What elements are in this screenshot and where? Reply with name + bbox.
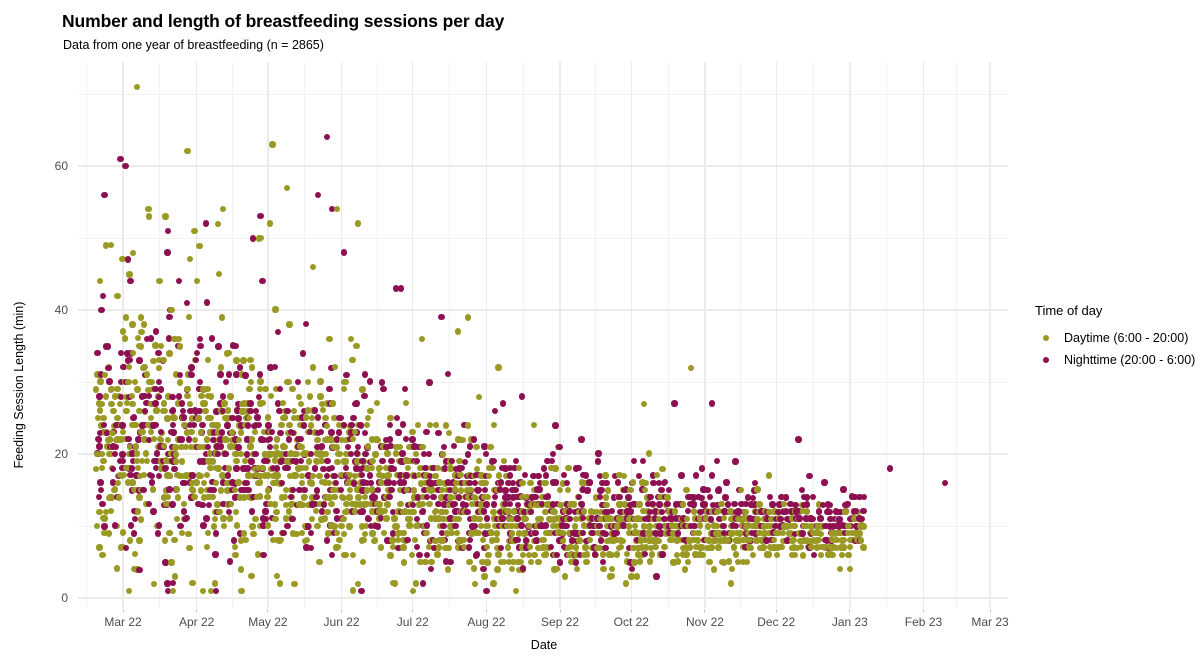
- data-point: [224, 422, 230, 428]
- data-point: [134, 450, 140, 456]
- data-point: [282, 414, 288, 420]
- data-point: [184, 393, 190, 399]
- data-point: [359, 386, 365, 392]
- data-point: [523, 516, 529, 522]
- data-point: [618, 537, 624, 543]
- data-point: [410, 588, 416, 594]
- data-point: [742, 509, 748, 515]
- data-point: [642, 551, 648, 557]
- data-point: [565, 487, 571, 493]
- data-point: [349, 357, 355, 363]
- data-point: [169, 408, 175, 414]
- data-point: [494, 530, 500, 536]
- data-point: [683, 487, 689, 493]
- data-point: [587, 537, 593, 543]
- data-point: [406, 522, 412, 528]
- data-point: [215, 221, 221, 227]
- x-tick-mark: [631, 609, 632, 613]
- data-point: [401, 559, 407, 565]
- data-point: [548, 544, 554, 550]
- data-point: [125, 379, 131, 385]
- data-point: [113, 444, 119, 450]
- data-point: [459, 465, 465, 471]
- data-point: [573, 544, 579, 550]
- data-point: [362, 371, 368, 377]
- data-point: [252, 429, 258, 435]
- data-point: [433, 422, 439, 428]
- data-point: [618, 544, 624, 550]
- data-point: [258, 235, 264, 241]
- data-point: [273, 509, 279, 515]
- x-tick-label: Mar 22: [104, 615, 141, 629]
- data-point: [387, 436, 393, 442]
- data-point: [367, 472, 373, 478]
- data-point: [277, 386, 283, 392]
- data-point: [346, 494, 352, 500]
- data-point: [572, 523, 578, 529]
- data-point: [528, 509, 534, 515]
- data-point: [388, 458, 394, 464]
- data-point: [286, 436, 292, 442]
- data-point: [203, 408, 209, 414]
- data-point: [383, 515, 389, 521]
- data-point: [306, 458, 312, 464]
- data-point: [123, 314, 129, 320]
- gridline-x-minor: [956, 62, 957, 608]
- data-point: [285, 379, 291, 385]
- data-point: [305, 523, 311, 529]
- data-point: [654, 472, 660, 478]
- data-point: [445, 566, 451, 572]
- data-point: [202, 400, 208, 406]
- legend-key-night: [1035, 349, 1057, 371]
- data-point: [317, 378, 323, 384]
- data-point: [491, 501, 497, 507]
- data-point: [248, 379, 254, 385]
- data-point: [160, 357, 166, 363]
- data-point: [250, 531, 256, 537]
- data-point: [274, 472, 280, 478]
- data-point: [350, 436, 356, 442]
- data-point: [336, 429, 342, 435]
- data-point: [225, 407, 231, 413]
- legend-label: Nighttime (20:00 - 6:00): [1064, 353, 1195, 367]
- data-point: [452, 501, 458, 507]
- data-point: [116, 494, 122, 500]
- data-point: [296, 394, 302, 400]
- data-point: [259, 278, 265, 284]
- data-point: [145, 206, 151, 212]
- data-point: [110, 408, 116, 414]
- data-point: [314, 487, 320, 493]
- data-point: [754, 486, 760, 492]
- data-point: [333, 480, 339, 486]
- data-point: [223, 379, 229, 385]
- data-point: [350, 552, 356, 558]
- data-point: [454, 530, 460, 536]
- data-point: [126, 271, 132, 277]
- data-point: [245, 465, 251, 471]
- data-point: [603, 494, 609, 500]
- data-point: [810, 494, 816, 500]
- data-point: [152, 400, 158, 406]
- gridline-x-minor: [232, 62, 233, 608]
- data-point: [284, 523, 290, 529]
- data-point: [449, 458, 455, 464]
- data-point: [138, 329, 144, 335]
- data-point: [756, 501, 762, 507]
- data-point: [592, 551, 598, 557]
- data-point: [130, 350, 136, 356]
- data-point: [362, 430, 368, 436]
- data-point: [400, 530, 406, 536]
- data-point: [518, 522, 524, 528]
- data-point: [129, 393, 135, 399]
- data-point: [728, 580, 734, 586]
- data-point: [641, 401, 647, 407]
- data-point: [107, 494, 113, 500]
- data-point: [596, 523, 602, 529]
- data-point: [135, 508, 141, 514]
- data-point: [146, 501, 152, 507]
- data-point: [395, 429, 401, 435]
- data-point: [338, 523, 344, 529]
- data-point: [237, 364, 243, 370]
- data-point: [595, 458, 601, 464]
- data-point: [123, 408, 129, 414]
- data-point: [180, 408, 186, 414]
- data-point: [799, 530, 805, 536]
- data-point: [249, 523, 255, 529]
- data-point: [204, 299, 210, 305]
- data-point: [381, 530, 387, 536]
- data-point: [231, 537, 237, 543]
- data-point: [789, 538, 795, 544]
- data-point: [220, 206, 226, 212]
- data-point: [347, 487, 353, 493]
- data-point: [318, 429, 324, 435]
- data-point: [158, 343, 164, 349]
- data-point: [372, 537, 378, 543]
- data-point: [447, 559, 453, 565]
- data-point: [201, 480, 207, 486]
- data-point: [219, 314, 225, 320]
- data-point: [268, 530, 274, 536]
- data-point: [110, 466, 116, 472]
- data-point: [603, 502, 609, 508]
- data-point: [98, 401, 104, 407]
- data-point: [249, 436, 255, 442]
- data-point: [723, 479, 729, 485]
- x-tick-label: Feb 23: [905, 615, 942, 629]
- data-point: [321, 501, 327, 507]
- data-point: [575, 465, 581, 471]
- x-tick-label: May 22: [248, 615, 287, 629]
- data-point: [729, 566, 735, 572]
- data-point: [359, 458, 365, 464]
- data-point: [413, 451, 419, 457]
- data-point: [126, 588, 132, 594]
- data-point: [169, 394, 175, 400]
- data-point: [640, 458, 646, 464]
- data-point: [815, 537, 821, 543]
- data-point: [265, 414, 271, 420]
- data-point: [295, 379, 301, 385]
- data-point: [114, 415, 120, 421]
- legend: Time of day Daytime (6:00 - 20:00)Nightt…: [1035, 303, 1195, 371]
- data-point: [247, 400, 253, 406]
- data-point: [445, 371, 451, 377]
- data-point: [614, 551, 620, 557]
- data-point: [731, 544, 737, 550]
- data-point: [746, 537, 752, 543]
- data-point: [440, 523, 446, 529]
- data-point: [464, 509, 470, 515]
- data-point: [135, 335, 141, 341]
- data-point: [226, 509, 232, 515]
- data-point: [177, 523, 183, 529]
- data-point: [481, 573, 487, 579]
- data-point: [166, 350, 172, 356]
- data-point: [227, 558, 233, 564]
- data-point: [309, 480, 315, 486]
- data-point: [423, 429, 429, 435]
- data-point: [428, 566, 434, 572]
- data-point: [238, 566, 244, 572]
- gridline-x-major: [196, 62, 197, 608]
- data-point: [465, 314, 471, 320]
- data-point: [173, 451, 179, 457]
- data-point: [329, 465, 335, 471]
- data-point: [213, 480, 219, 486]
- data-point: [655, 538, 661, 544]
- data-point: [141, 321, 147, 327]
- data-point: [96, 509, 102, 515]
- data-point: [205, 444, 211, 450]
- data-point: [595, 450, 601, 456]
- data-point: [168, 559, 174, 565]
- data-point: [509, 566, 515, 572]
- data-point: [861, 494, 867, 500]
- data-point: [213, 588, 219, 594]
- data-point: [257, 493, 263, 499]
- data-point: [98, 307, 104, 313]
- data-point: [187, 401, 193, 407]
- data-point: [721, 515, 727, 521]
- data-point: [146, 393, 152, 399]
- data-point: [467, 537, 473, 543]
- data-point: [582, 544, 588, 550]
- x-tick-mark: [123, 609, 124, 613]
- data-point: [175, 494, 181, 500]
- data-point: [362, 451, 368, 457]
- data-point: [100, 293, 106, 299]
- data-point: [200, 522, 206, 528]
- x-axis-title: Date: [78, 638, 1010, 652]
- data-point: [101, 523, 107, 529]
- data-point: [211, 523, 217, 529]
- data-point: [335, 451, 341, 457]
- data-point: [193, 357, 199, 363]
- data-point: [326, 386, 332, 392]
- data-point: [206, 502, 212, 508]
- data-point: [502, 487, 508, 493]
- data-point: [733, 551, 739, 557]
- legend-item-night[interactable]: Nighttime (20:00 - 6:00): [1035, 349, 1195, 371]
- data-point: [268, 393, 274, 399]
- data-point: [286, 422, 292, 428]
- data-point: [707, 494, 713, 500]
- data-point: [233, 357, 239, 363]
- data-point: [471, 565, 477, 571]
- data-point: [316, 559, 322, 565]
- data-point: [205, 530, 211, 536]
- data-point: [179, 530, 185, 536]
- data-point: [584, 551, 590, 557]
- data-point: [375, 523, 381, 529]
- data-point: [738, 487, 744, 493]
- data-point: [492, 494, 498, 500]
- data-point: [374, 400, 380, 406]
- data-point: [799, 487, 805, 493]
- data-point: [267, 220, 273, 226]
- data-point: [278, 422, 284, 428]
- data-point: [586, 479, 592, 485]
- data-point: [829, 552, 835, 558]
- data-point: [196, 243, 202, 249]
- data-point: [298, 401, 304, 407]
- data-point: [226, 465, 232, 471]
- data-point: [322, 451, 328, 457]
- data-point: [747, 545, 753, 551]
- data-point: [362, 494, 368, 500]
- data-point: [809, 516, 815, 522]
- data-point: [101, 422, 107, 428]
- data-point: [235, 444, 241, 450]
- data-point: [334, 459, 340, 465]
- data-point: [392, 523, 398, 529]
- data-point: [491, 422, 497, 428]
- data-point: [652, 544, 658, 550]
- legend-item-day[interactable]: Daytime (6:00 - 20:00): [1035, 327, 1195, 349]
- data-point: [821, 479, 827, 485]
- data-point: [806, 473, 812, 479]
- data-point: [213, 530, 219, 536]
- data-point: [600, 566, 606, 572]
- data-point: [359, 508, 365, 514]
- data-point: [176, 278, 182, 284]
- data-point: [409, 429, 415, 435]
- data-point: [282, 494, 288, 500]
- data-point: [297, 443, 303, 449]
- data-point: [440, 451, 446, 457]
- data-point: [158, 429, 164, 435]
- x-tick-label: Apr 22: [179, 615, 214, 629]
- data-point: [440, 537, 446, 543]
- data-point: [627, 487, 633, 493]
- data-point: [793, 508, 799, 514]
- data-point: [331, 494, 337, 500]
- data-point: [783, 494, 789, 500]
- data-point: [845, 552, 851, 558]
- data-point: [220, 515, 226, 521]
- data-point: [274, 436, 280, 442]
- data-point: [403, 436, 409, 442]
- data-point: [774, 552, 780, 558]
- data-point: [257, 378, 263, 384]
- data-point: [165, 494, 171, 500]
- data-point: [583, 472, 589, 478]
- gridline-y-major: [78, 309, 1008, 310]
- data-point: [150, 508, 156, 514]
- data-point: [125, 436, 131, 442]
- data-point: [818, 531, 824, 537]
- data-point: [279, 480, 285, 486]
- data-point: [191, 494, 197, 500]
- data-point: [457, 472, 463, 478]
- data-point: [750, 552, 756, 558]
- data-point: [198, 393, 204, 399]
- data-point: [242, 537, 248, 543]
- data-point: [361, 393, 367, 399]
- data-point: [435, 430, 441, 436]
- data-point: [226, 371, 232, 377]
- data-point: [120, 529, 126, 535]
- data-point: [661, 480, 667, 486]
- data-point: [474, 551, 480, 557]
- data-point: [520, 552, 526, 558]
- data-point: [220, 393, 226, 399]
- data-point: [438, 314, 444, 320]
- data-point: [331, 473, 337, 479]
- data-point: [861, 523, 867, 529]
- data-point: [636, 501, 642, 507]
- data-point: [120, 429, 126, 435]
- data-point: [166, 473, 172, 479]
- data-point: [162, 408, 168, 414]
- data-point: [199, 422, 205, 428]
- data-point: [260, 552, 266, 558]
- data-point: [184, 148, 190, 154]
- data-point: [246, 415, 252, 421]
- data-point: [331, 523, 337, 529]
- data-point: [203, 220, 209, 226]
- x-tick-mark: [412, 609, 413, 613]
- data-point: [340, 516, 346, 522]
- data-point: [804, 508, 810, 514]
- x-tick-mark: [267, 609, 268, 613]
- data-point: [842, 509, 848, 515]
- data-point: [233, 458, 239, 464]
- chart-subtitle: Data from one year of breastfeeding (n =…: [63, 38, 324, 52]
- x-tick-label: Aug 22: [467, 615, 505, 629]
- data-point: [499, 515, 505, 521]
- data-point: [118, 350, 124, 356]
- data-point: [181, 501, 187, 507]
- data-point: [695, 530, 701, 536]
- data-point: [156, 522, 162, 528]
- data-point: [275, 329, 281, 335]
- data-point: [564, 480, 570, 486]
- data-point: [131, 414, 137, 420]
- data-point: [680, 501, 686, 507]
- data-point: [942, 480, 948, 486]
- data-point: [400, 421, 406, 427]
- data-point: [551, 509, 557, 515]
- data-point: [353, 400, 359, 406]
- y-axis-title: Feeding Session Length (min): [12, 169, 30, 601]
- data-point: [172, 573, 178, 579]
